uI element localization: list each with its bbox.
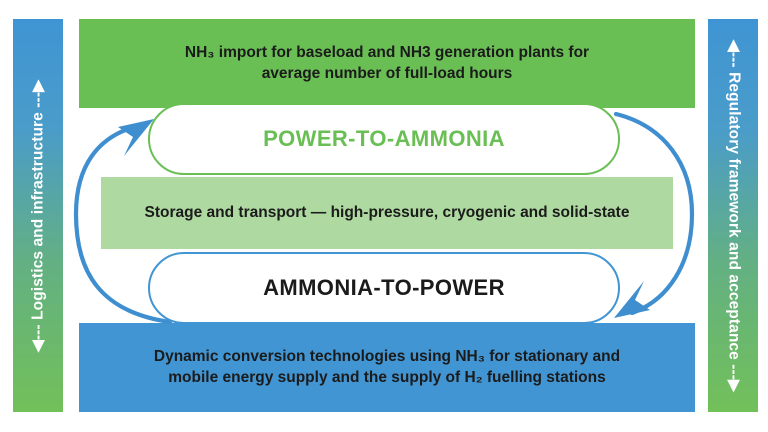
block-top-line-1: NH₃ import for baseload and NH3 generati… (185, 44, 589, 61)
rail-logistics-and-infrastructure: ◀--- Logistics and infrastructure ---▶ (13, 19, 63, 412)
rail-right-label: ◀--- Regulatory framework and acceptance… (722, 19, 744, 412)
pill-top-label: POWER-TO-AMMONIA (263, 126, 505, 152)
pill-power-to-ammonia[interactable]: POWER-TO-AMMONIA (148, 103, 620, 175)
block-bottom-text: Dynamic conversion technologies using NH… (128, 347, 646, 388)
band-storage-and-transport: Storage and transport — high-pressure, c… (101, 177, 673, 249)
block-nh3-import-baseload: NH₃ import for baseload and NH3 generati… (79, 19, 695, 108)
rail-left-label: ◀--- Logistics and infrastructure ---▶ (27, 19, 49, 412)
rail-regulatory-framework-and-acceptance: ◀--- Regulatory framework and acceptance… (708, 19, 758, 412)
block-bottom-line-1: Dynamic conversion technologies using NH… (154, 348, 620, 365)
block-top-line-2: average number of full-load hours (262, 65, 513, 82)
block-dynamic-conversion-technologies: Dynamic conversion technologies using NH… (79, 323, 695, 412)
block-top-text: NH₃ import for baseload and NH3 generati… (159, 43, 615, 84)
pill-ammonia-to-power[interactable]: AMMONIA-TO-POWER (148, 252, 620, 324)
storage-band-label: Storage and transport — high-pressure, c… (145, 204, 630, 222)
pill-bottom-label: AMMONIA-TO-POWER (263, 275, 505, 301)
diagram-canvas: ◀--- Logistics and infrastructure ---▶ ◀… (0, 0, 768, 432)
block-bottom-line-2: mobile energy supply and the supply of H… (168, 369, 606, 386)
